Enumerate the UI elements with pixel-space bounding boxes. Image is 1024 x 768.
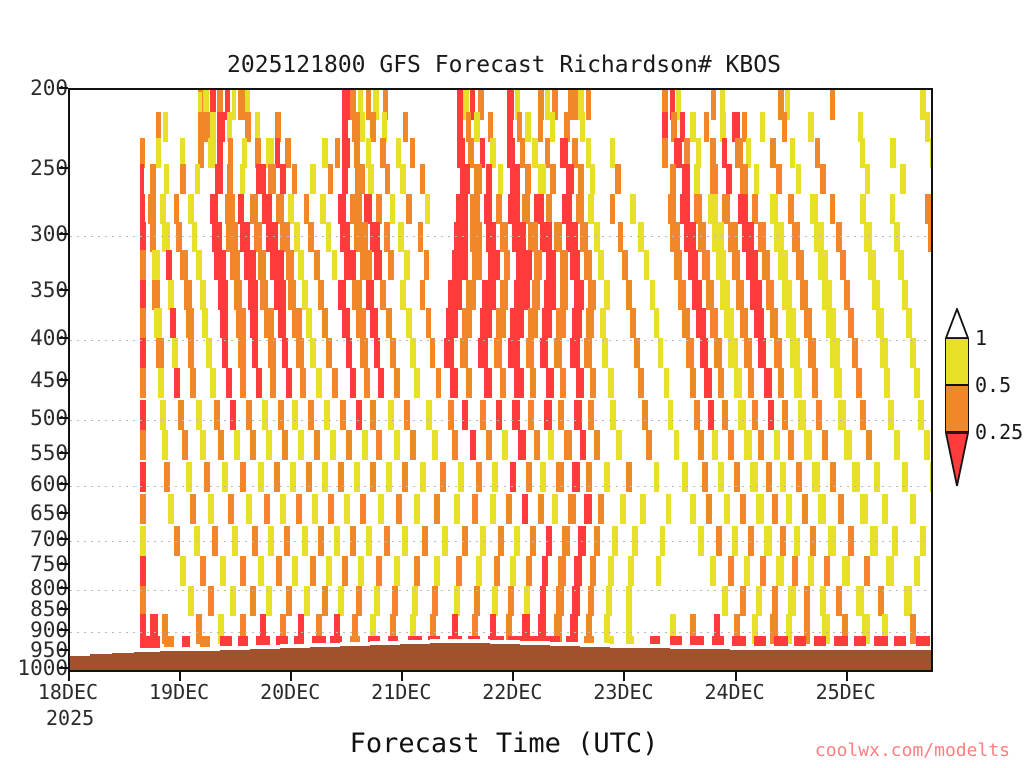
heatmap-cell bbox=[310, 338, 316, 368]
heatmap-cell bbox=[212, 526, 218, 556]
heatmap-cell bbox=[162, 222, 170, 252]
heatmap-cell bbox=[414, 368, 420, 398]
heatmap-cell bbox=[370, 308, 378, 338]
heatmap-cell bbox=[570, 250, 580, 280]
heatmap-cell bbox=[722, 586, 728, 616]
heatmap-cell bbox=[668, 400, 673, 430]
surface-line-segment bbox=[730, 646, 760, 650]
terrain-surface bbox=[70, 630, 931, 670]
heatmap-cell bbox=[562, 526, 570, 556]
heatmap-cell bbox=[770, 194, 778, 224]
heatmap-cell bbox=[822, 430, 828, 460]
heatmap-cell bbox=[250, 194, 258, 224]
heatmap-cells bbox=[70, 90, 931, 670]
heatmap-cell bbox=[718, 368, 724, 398]
heatmap-cell bbox=[758, 430, 764, 460]
heatmap-cell bbox=[772, 586, 778, 616]
heatmap-cell bbox=[556, 462, 564, 492]
terrain-segment bbox=[90, 654, 112, 670]
surface-line-segment bbox=[340, 642, 370, 646]
heatmap-cell bbox=[662, 138, 668, 168]
y-tick-350 bbox=[59, 289, 68, 291]
heatmap-cell bbox=[238, 338, 246, 368]
heatmap-cell bbox=[454, 586, 460, 616]
heatmap-cell bbox=[770, 308, 778, 338]
heatmap-cell bbox=[140, 526, 146, 556]
heatmap-cell bbox=[578, 526, 586, 556]
heatmap-cell bbox=[710, 556, 716, 586]
heatmap-cell bbox=[470, 194, 480, 224]
heatmap-cell bbox=[240, 462, 246, 492]
y-tick-600 bbox=[59, 483, 68, 485]
heatmap-cell bbox=[572, 308, 582, 338]
heatmap-cell bbox=[678, 280, 686, 310]
heatmap-cell bbox=[346, 338, 352, 368]
heatmap-cell bbox=[292, 164, 297, 194]
heatmap-cell bbox=[694, 194, 702, 224]
heatmap-cell bbox=[310, 556, 316, 586]
surface-line-segment bbox=[880, 646, 910, 650]
heatmap-cell bbox=[182, 430, 188, 460]
heatmap-cell bbox=[456, 194, 468, 224]
heatmap-cell bbox=[200, 430, 206, 460]
heatmap-cell bbox=[194, 526, 200, 556]
heatmap-cell bbox=[340, 400, 346, 430]
heatmap-cell bbox=[344, 250, 356, 280]
y-tick-950 bbox=[59, 649, 68, 651]
surface-line-segment bbox=[280, 644, 310, 648]
heatmap-cell bbox=[282, 338, 288, 368]
heatmap-cell bbox=[774, 430, 780, 460]
heatmap-cell bbox=[798, 400, 806, 430]
heatmap-cell bbox=[548, 430, 554, 460]
heatmap-cell bbox=[406, 308, 412, 338]
heatmap-cell bbox=[225, 194, 235, 224]
heatmap-cell bbox=[526, 462, 532, 492]
heatmap-cell bbox=[360, 250, 372, 280]
heatmap-cell bbox=[534, 194, 544, 224]
heatmap-cell bbox=[594, 430, 600, 460]
heatmap-cell bbox=[830, 338, 840, 368]
heatmap-cell bbox=[584, 494, 592, 524]
heatmap-cell bbox=[754, 164, 759, 194]
heatmap-cell bbox=[308, 400, 314, 430]
heatmap-cell bbox=[378, 494, 384, 524]
heatmap-cell bbox=[140, 556, 146, 586]
x-tick-label-22DEC: 22DEC bbox=[482, 680, 542, 704]
heatmap-cell bbox=[258, 250, 266, 280]
heatmap-cell bbox=[310, 164, 316, 194]
heatmap-cell bbox=[544, 400, 552, 430]
heatmap-cell bbox=[890, 194, 895, 224]
heatmap-cell bbox=[334, 526, 340, 556]
y-tick-900 bbox=[59, 629, 68, 631]
heatmap-cell bbox=[576, 368, 584, 398]
heatmap-cell bbox=[802, 494, 808, 524]
heatmap-cell bbox=[660, 526, 665, 556]
heatmap-cell bbox=[698, 430, 704, 460]
heatmap-cell bbox=[214, 250, 226, 280]
heatmap-cell bbox=[756, 586, 762, 616]
heatmap-cell bbox=[320, 194, 326, 224]
heatmap-cell bbox=[574, 556, 582, 586]
terrain-segment bbox=[460, 643, 490, 670]
heatmap-cell bbox=[140, 164, 144, 194]
terrain-segment bbox=[400, 644, 430, 670]
terrain-segment bbox=[790, 650, 820, 670]
heatmap-cell bbox=[880, 338, 888, 368]
surface-line-segment bbox=[580, 643, 610, 647]
heatmap-cell bbox=[510, 462, 516, 492]
heatmap-cell bbox=[566, 222, 578, 252]
terrain-segment bbox=[850, 650, 880, 670]
heatmap-cell bbox=[332, 250, 337, 280]
colorbar-label-0.5: 0.5 bbox=[975, 373, 1011, 397]
heatmap-cell bbox=[328, 164, 333, 194]
heatmap-cell bbox=[760, 556, 766, 586]
heatmap-cell bbox=[202, 308, 208, 338]
heatmap-cell bbox=[550, 112, 555, 142]
heatmap-cell bbox=[638, 368, 644, 398]
heatmap-cell bbox=[376, 556, 382, 586]
heatmap-cell bbox=[808, 338, 816, 368]
heatmap-cell bbox=[262, 194, 272, 224]
heatmap-cell bbox=[316, 368, 322, 398]
heatmap-cell bbox=[842, 556, 850, 586]
heatmap-cell bbox=[716, 526, 722, 556]
heatmap-cell bbox=[188, 338, 194, 368]
heatmap-cell bbox=[140, 494, 146, 524]
heatmap-cell bbox=[362, 430, 368, 460]
heatmap-cell bbox=[338, 194, 346, 224]
heatmap-cell bbox=[280, 222, 290, 252]
heatmap-cell bbox=[394, 430, 400, 460]
heatmap-cell bbox=[514, 280, 530, 310]
heatmap-cell bbox=[178, 400, 184, 430]
heatmap-cell bbox=[830, 90, 835, 120]
heatmap-cell bbox=[388, 400, 394, 430]
heatmap-cell bbox=[442, 526, 448, 556]
heatmap-cell bbox=[228, 494, 234, 524]
heatmap-cell bbox=[462, 400, 468, 430]
heatmap-cell bbox=[584, 250, 592, 280]
heatmap-cell bbox=[606, 586, 612, 616]
surface-line-segment bbox=[430, 639, 460, 643]
heatmap-cell bbox=[164, 462, 170, 492]
heatmap-cell bbox=[552, 494, 558, 524]
heatmap-cell bbox=[338, 462, 344, 492]
heatmap-cell bbox=[682, 308, 690, 338]
heatmap-cell bbox=[808, 112, 814, 142]
terrain-segment bbox=[310, 647, 340, 670]
heatmap-cell bbox=[414, 494, 420, 524]
surface-line-segment bbox=[460, 639, 490, 643]
chart-title: 2025121800 GFS Forecast Richardson# KBOS bbox=[0, 52, 1008, 78]
heatmap-cell bbox=[332, 368, 338, 398]
heatmap-cell bbox=[140, 586, 146, 616]
heatmap-cell bbox=[514, 526, 520, 556]
heatmap-cell bbox=[220, 556, 226, 586]
heatmap-cell bbox=[174, 194, 179, 224]
heatmap-cell bbox=[638, 222, 644, 252]
heatmap-cell bbox=[714, 338, 722, 368]
colorbar-band-orange bbox=[945, 385, 969, 432]
heatmap-cell bbox=[634, 338, 640, 368]
heatmap-cell bbox=[640, 494, 646, 524]
heatmap-cell bbox=[256, 164, 266, 194]
heatmap-cell bbox=[588, 194, 594, 224]
heatmap-cell bbox=[744, 556, 750, 586]
heatmap-cell bbox=[525, 112, 531, 142]
heatmap-cell bbox=[238, 90, 245, 120]
heatmap-cell bbox=[506, 494, 512, 524]
heatmap-cell bbox=[360, 338, 368, 368]
heatmap-cell bbox=[666, 494, 671, 524]
heatmap-cell bbox=[330, 430, 336, 460]
heatmap-cell bbox=[432, 430, 438, 460]
heatmap-cell bbox=[830, 194, 835, 224]
surface-line-segment bbox=[520, 641, 550, 645]
heatmap-cell bbox=[674, 250, 682, 280]
surface-line-segment bbox=[310, 643, 340, 647]
heatmap-cell bbox=[374, 586, 380, 616]
heatmap-cell bbox=[290, 462, 296, 492]
heatmap-cell bbox=[284, 526, 290, 556]
heatmap-cell bbox=[598, 250, 604, 280]
heatmap-cell bbox=[298, 250, 304, 280]
heatmap-cell bbox=[508, 338, 520, 368]
heatmap-cell bbox=[340, 222, 350, 252]
terrain-segment bbox=[70, 656, 90, 670]
heatmap-cell bbox=[150, 222, 156, 252]
heatmap-cell bbox=[804, 586, 810, 616]
heatmap-cell bbox=[526, 338, 534, 368]
heatmap-cell bbox=[480, 400, 486, 430]
heatmap-cell bbox=[444, 338, 454, 368]
heatmap-cell bbox=[865, 164, 870, 194]
heatmap-cell bbox=[540, 222, 552, 252]
watermark: coolwx.com/modelts bbox=[815, 740, 1010, 761]
surface-line-segment bbox=[134, 648, 160, 652]
y-tick-450 bbox=[59, 379, 68, 381]
heatmap-cell bbox=[774, 338, 782, 368]
heatmap-cell bbox=[740, 308, 748, 338]
heatmap-cell bbox=[628, 556, 634, 586]
heatmap-cell bbox=[748, 368, 754, 398]
heatmap-cell bbox=[516, 250, 532, 280]
heatmap-cell bbox=[764, 526, 772, 556]
heatmap-cell bbox=[644, 250, 649, 280]
heatmap-cell bbox=[740, 586, 746, 616]
surface-line-segment bbox=[850, 646, 880, 650]
heatmap-cell bbox=[230, 250, 240, 280]
heatmap-cell bbox=[292, 308, 302, 338]
heatmap-cell bbox=[286, 368, 292, 398]
heatmap-cell bbox=[392, 586, 398, 616]
heatmap-cell bbox=[584, 338, 592, 368]
heatmap-cell bbox=[200, 556, 206, 586]
surface-line-segment bbox=[250, 645, 280, 649]
heatmap-cell bbox=[356, 308, 366, 338]
heatmap-cell bbox=[494, 338, 502, 368]
heatmap-cell bbox=[312, 494, 318, 524]
terrain-segment bbox=[112, 653, 134, 670]
heatmap-cell bbox=[196, 250, 202, 280]
heatmap-cell bbox=[326, 338, 332, 368]
heatmap-cell bbox=[266, 222, 278, 252]
surface-line-segment bbox=[820, 646, 850, 650]
heatmap-cell bbox=[804, 430, 812, 460]
heatmap-cell bbox=[238, 194, 244, 224]
heatmap-cell bbox=[796, 250, 804, 280]
heatmap-cell bbox=[540, 462, 546, 492]
heatmap-cell bbox=[860, 494, 868, 524]
heatmap-cell bbox=[282, 430, 288, 460]
heatmap-cell bbox=[354, 462, 360, 492]
heatmap-cell bbox=[820, 586, 826, 616]
heatmap-cell bbox=[280, 494, 286, 524]
heatmap-cell bbox=[554, 222, 562, 252]
heatmap-cell bbox=[900, 164, 906, 194]
heatmap-cell bbox=[874, 462, 880, 492]
heatmap-cell bbox=[828, 526, 836, 556]
surface-line-segment bbox=[610, 644, 640, 648]
heatmap-cell bbox=[208, 494, 214, 524]
heatmap-cell bbox=[276, 556, 282, 586]
heatmap-cell bbox=[412, 586, 418, 616]
heatmap-cell bbox=[500, 222, 508, 252]
heatmap-cell bbox=[588, 280, 596, 310]
x-tick-label-24DEC: 24DEC bbox=[704, 680, 764, 704]
heatmap-cell bbox=[726, 164, 732, 194]
heatmap-cell bbox=[478, 338, 488, 368]
heatmap-cell bbox=[448, 400, 454, 430]
y-tick-500 bbox=[59, 417, 68, 419]
heatmap-cell bbox=[250, 430, 256, 460]
heatmap-cell bbox=[602, 338, 608, 368]
heatmap-cell bbox=[164, 164, 169, 194]
heatmap-cell bbox=[706, 494, 712, 524]
heatmap-cell bbox=[174, 368, 180, 398]
heatmap-cell bbox=[792, 222, 800, 252]
heatmap-cell bbox=[376, 194, 382, 224]
heatmap-cell bbox=[776, 164, 782, 194]
heatmap-cell bbox=[356, 586, 362, 616]
heatmap-cell bbox=[176, 222, 182, 252]
heatmap-cell bbox=[326, 556, 332, 586]
heatmap-cell bbox=[244, 250, 256, 280]
heatmap-cell bbox=[758, 222, 766, 252]
y-axis-ticks bbox=[59, 88, 68, 672]
heatmap-cell bbox=[454, 494, 460, 524]
heatmap-cell bbox=[510, 308, 524, 338]
heatmap-cell bbox=[500, 280, 508, 310]
heatmap-cell bbox=[304, 586, 310, 616]
heatmap-cell bbox=[434, 494, 440, 524]
heatmap-cell bbox=[750, 462, 758, 492]
heatmap-cell bbox=[724, 494, 730, 524]
heatmap-cell bbox=[484, 194, 492, 224]
heatmap-cell bbox=[512, 400, 520, 430]
heatmap-cell bbox=[258, 556, 264, 586]
heatmap-cell bbox=[750, 280, 762, 310]
heatmap-cell bbox=[740, 494, 746, 524]
heatmap-cell bbox=[308, 222, 314, 252]
heatmap-cell bbox=[360, 112, 365, 142]
heatmap-cell bbox=[200, 280, 206, 310]
heatmap-cell bbox=[140, 430, 146, 460]
x-axis-labels: 18DEC19DEC20DEC21DEC22DEC23DEC24DEC25DEC bbox=[0, 680, 1024, 710]
heatmap-cell bbox=[160, 194, 166, 224]
heatmap-cell bbox=[734, 462, 740, 492]
heatmap-cell bbox=[538, 112, 543, 142]
heatmap-cell bbox=[588, 400, 594, 430]
heatmap-cell bbox=[690, 494, 696, 524]
y-tick-400 bbox=[59, 337, 68, 339]
heatmap-cell bbox=[580, 430, 586, 460]
heatmap-cell bbox=[740, 164, 748, 194]
heatmap-cell bbox=[546, 526, 552, 556]
heatmap-cell bbox=[546, 194, 552, 224]
heatmap-cell bbox=[140, 222, 146, 252]
y-tick-850 bbox=[59, 608, 68, 610]
heatmap-cell bbox=[522, 494, 528, 524]
heatmap-cell bbox=[450, 368, 458, 398]
heatmap-cell bbox=[932, 250, 933, 280]
heatmap-cell bbox=[452, 430, 458, 460]
heatmap-cell bbox=[742, 222, 754, 252]
heatmap-cell bbox=[670, 164, 676, 194]
heatmap-cell bbox=[525, 164, 531, 194]
heatmap-cell bbox=[864, 222, 872, 252]
heatmap-cell bbox=[612, 526, 618, 556]
heatmap-cell bbox=[594, 222, 600, 252]
surface-line-segment bbox=[760, 646, 790, 650]
heatmap-cell bbox=[886, 556, 894, 586]
heatmap-cell bbox=[534, 250, 542, 280]
heatmap-cell bbox=[708, 400, 714, 430]
heatmap-cell bbox=[460, 338, 468, 368]
heatmap-cell bbox=[240, 556, 246, 586]
x-tick-label-21DEC: 21DEC bbox=[371, 680, 431, 704]
heatmap-cell bbox=[492, 462, 498, 492]
heatmap-cell bbox=[590, 368, 596, 398]
heatmap-cell bbox=[368, 164, 374, 194]
colorbar: 10.50.25 bbox=[945, 308, 969, 488]
heatmap-cell bbox=[270, 368, 276, 398]
heatmap-cell bbox=[610, 194, 615, 224]
heatmap-cell bbox=[220, 308, 228, 338]
heatmap-cell bbox=[156, 338, 164, 368]
heatmap-cell bbox=[370, 222, 380, 252]
x-tick-label-20DEC: 20DEC bbox=[260, 680, 320, 704]
heatmap-cell bbox=[680, 194, 690, 224]
heatmap-cell bbox=[608, 556, 614, 586]
heatmap-cell bbox=[386, 462, 392, 492]
heatmap-cell bbox=[462, 308, 472, 338]
heatmap-cell bbox=[920, 526, 926, 556]
heatmap-cell bbox=[170, 308, 176, 338]
heatmap-cell bbox=[166, 250, 172, 280]
heatmap-cell bbox=[528, 308, 538, 338]
heatmap-cell bbox=[528, 222, 538, 252]
heatmap-cell bbox=[364, 194, 372, 224]
heatmap-cell bbox=[664, 368, 669, 398]
heatmap-cell bbox=[782, 280, 792, 310]
heatmap-cell bbox=[476, 556, 482, 586]
heatmap-cell bbox=[366, 280, 374, 310]
heatmap-cell bbox=[432, 586, 438, 616]
